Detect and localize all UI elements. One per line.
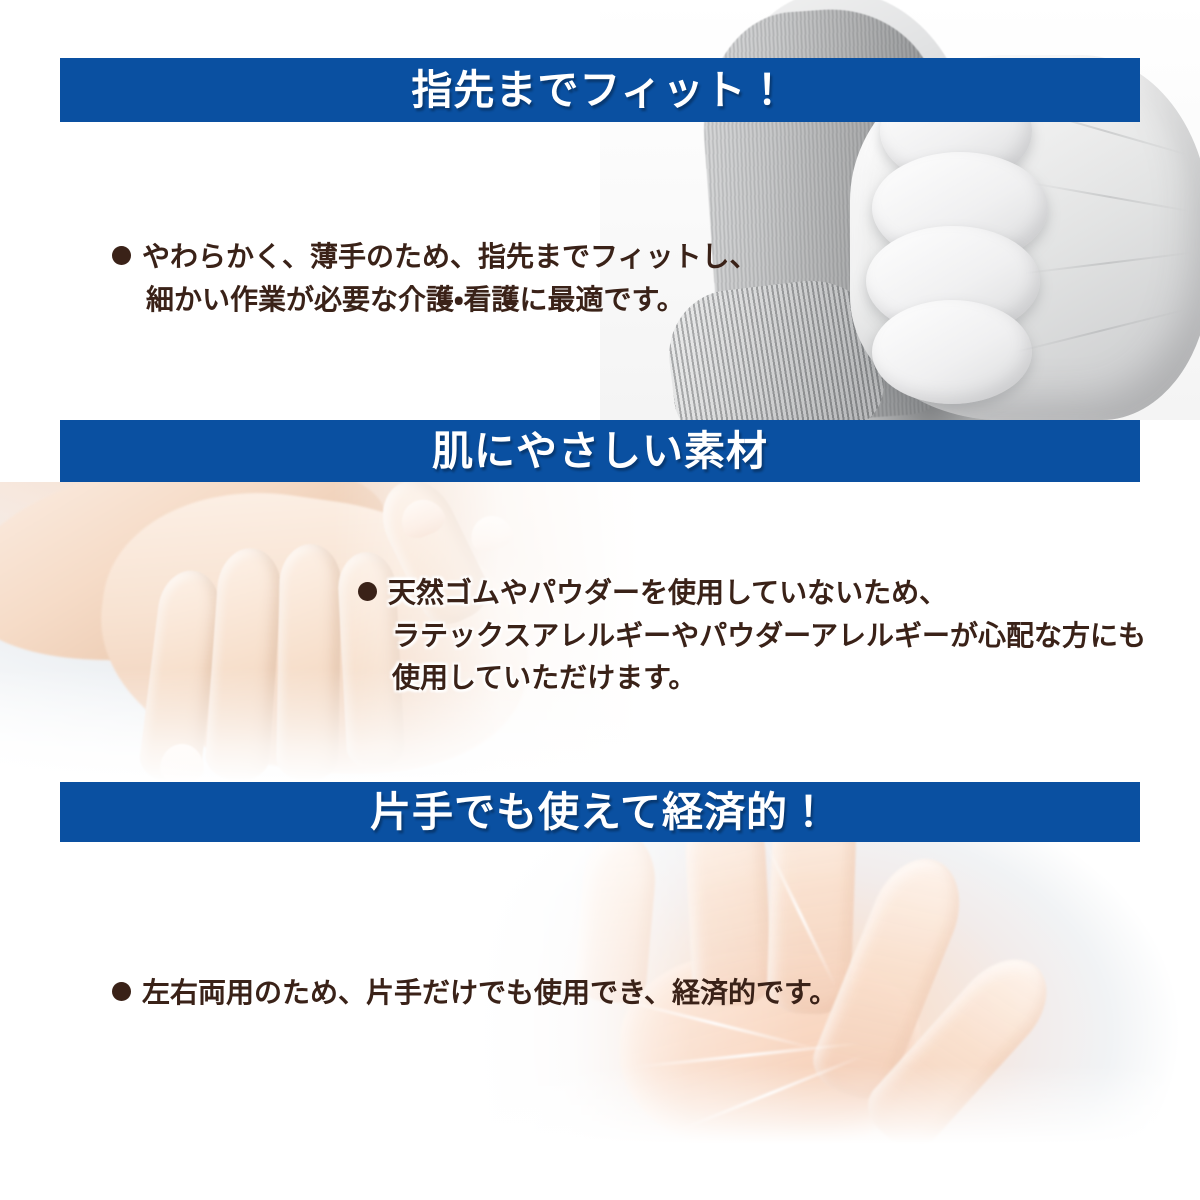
bullet-dot-icon [112, 246, 131, 265]
banner-gentle: 肌にやさしい素材 [60, 420, 1140, 482]
copy-line: 細かい作業が必要な介護・看護に最適です。 [112, 279, 757, 322]
product-feature-panel: 指先までフィット！ やわらかく、薄手のため、指先までフィットし、 細かい作業が必… [0, 0, 1200, 1200]
copy-line: ラテックスアレルギーやパウダーアレルギーが心配な方にも [358, 615, 1146, 658]
knuckle [872, 300, 1032, 404]
copy-line: やわらかく、薄手のため、指先までフィットし、 [112, 236, 757, 279]
banner-economical: 片手でも使えて経済的！ [60, 782, 1140, 842]
copy-text: 天然ゴムやパウダーを使用していないため、 [388, 577, 947, 608]
copy-line: 左右両用のため、片手だけでも使用でき、経済的です。 [112, 972, 837, 1015]
banner-title-economical: 片手でも使えて経済的！ [370, 792, 830, 833]
copy-text: 左右両用のため、片手だけでも使用でき、経済的です。 [142, 977, 837, 1008]
feature-section-economical: 片手でも使えて経済的！ 左右両用のため、片手だけでも使用でき、経済的です。 [0, 782, 1200, 1200]
copy-economical: 左右両用のため、片手だけでも使用でき、経済的です。 [112, 972, 837, 1015]
copy-text: やわらかく、薄手のため、指先までフィットし、 [142, 241, 757, 272]
copy-line: 使用していただけます。 [358, 657, 1146, 700]
copy-gentle: 天然ゴムやパウダーを使用していないため、 ラテックスアレルギーやパウダーアレルギ… [358, 572, 1146, 700]
banner-fit: 指先までフィット！ [60, 58, 1140, 122]
banner-title-gentle: 肌にやさしい素材 [432, 431, 768, 472]
bullet-dot-icon [358, 582, 377, 601]
feature-section-fit: 指先までフィット！ やわらかく、薄手のため、指先までフィットし、 細かい作業が必… [0, 0, 1200, 420]
banner-title-fit: 指先までフィット！ [411, 70, 788, 111]
bullet-dot-icon [112, 982, 131, 1001]
copy-fit: やわらかく、薄手のため、指先までフィットし、 細かい作業が必要な介護・看護に最適… [112, 236, 757, 321]
copy-line: 天然ゴムやパウダーを使用していないため、 [358, 572, 1146, 615]
feature-section-gentle: 肌にやさしい素材 天然ゴムやパウダーを使用していないため、 ラテックスアレルギー… [0, 420, 1200, 782]
